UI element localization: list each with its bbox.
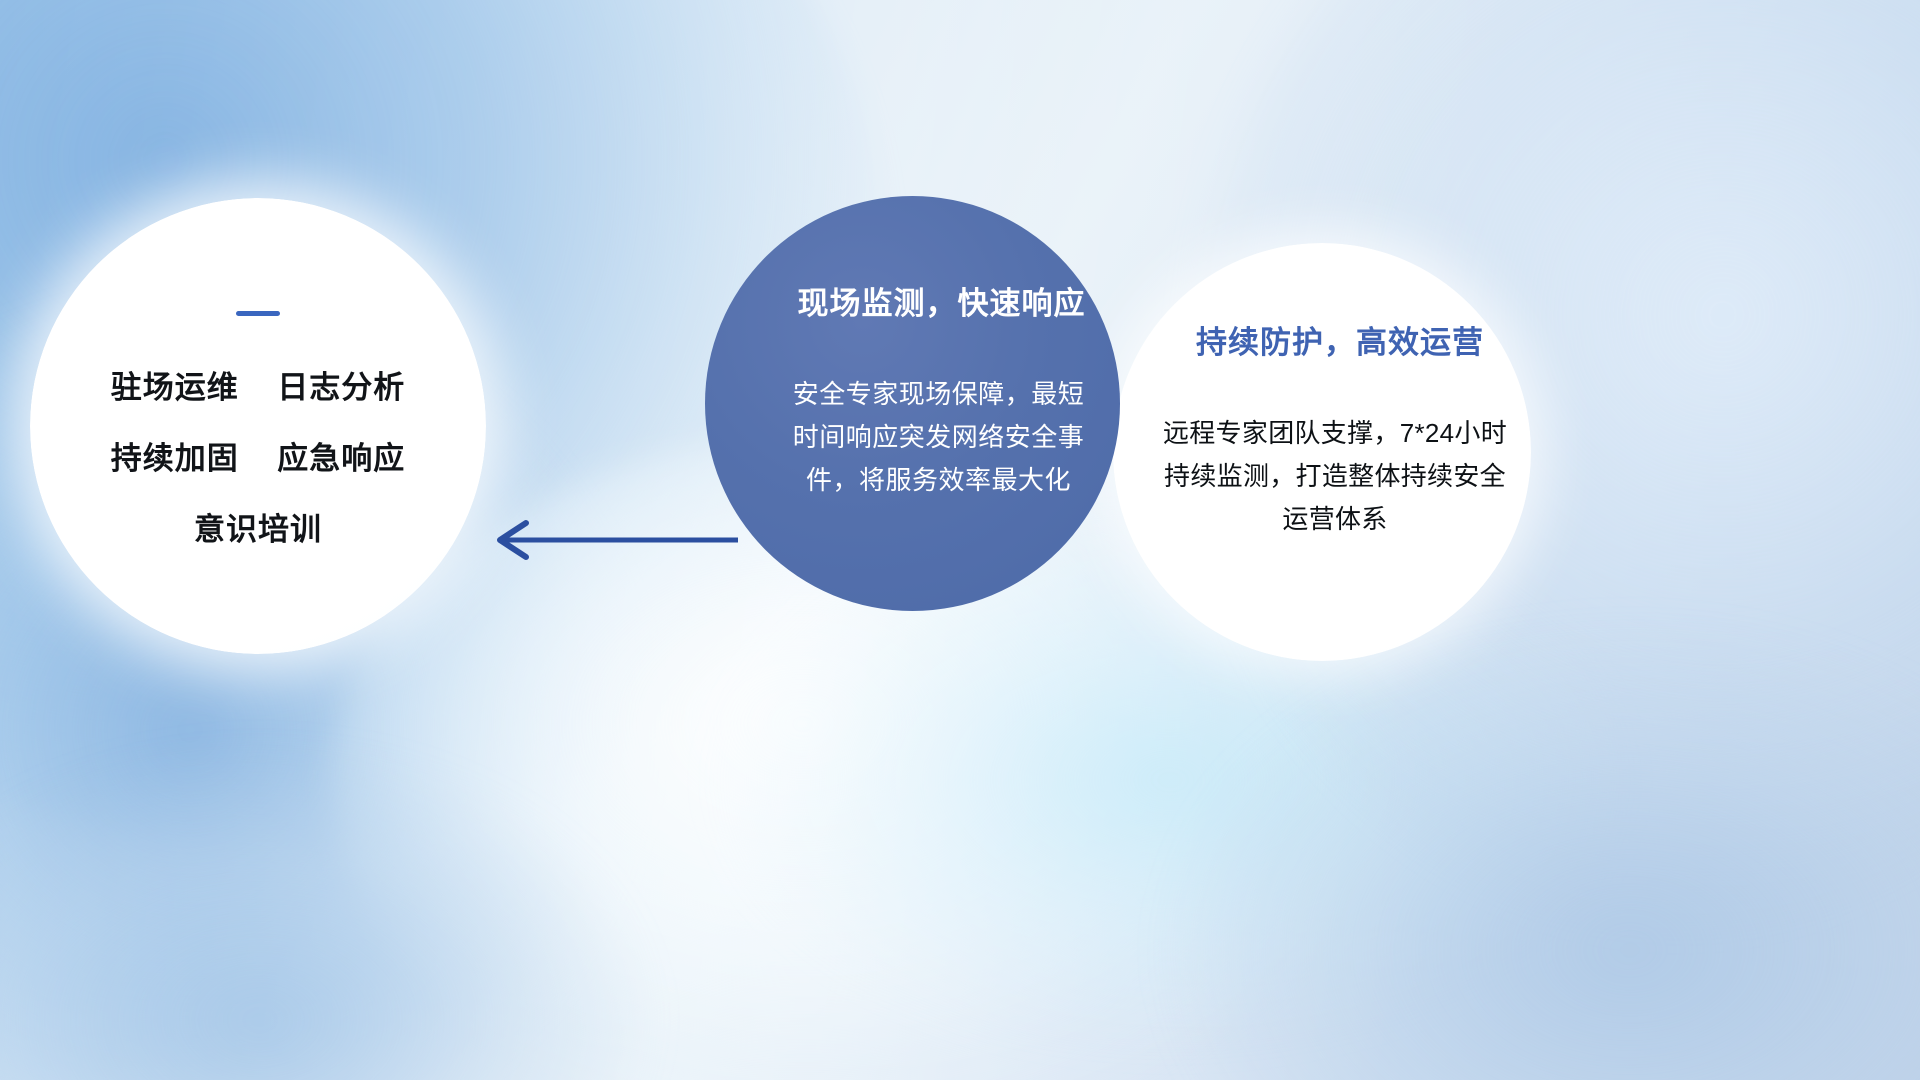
horizontal-dash-icon (236, 311, 280, 316)
middle-circle-body: 安全专家现场保障，最短时间响应突发网络安全事件，将服务效率最大化 (789, 373, 1089, 502)
middle-circle-title: 现场监测，快速响应 (798, 278, 1086, 323)
left-capability-line-1: 驻场运维 日志分析 (111, 362, 405, 407)
arrow-left-icon (480, 512, 740, 568)
slide-content: 驻场运维 日志分析 持续加固 应急响应 意识培训 现场监测，快速响应 安全专家现… (0, 0, 1920, 1080)
right-circle-body: 远程专家团队支撑，7*24小时持续监测，打造整体持续安全运营体系 (1159, 412, 1511, 541)
left-capability-circle: 驻场运维 日志分析 持续加固 应急响应 意识培训 (30, 198, 486, 654)
right-operations-circle: 持续防护，高效运营 远程专家团队支撑，7*24小时持续监测，打造整体持续安全运营… (1113, 243, 1531, 661)
right-circle-title: 持续防护，高效运营 (1196, 317, 1484, 362)
middle-onsite-circle: 现场监测，快速响应 安全专家现场保障，最短时间响应突发网络安全事件，将服务效率最… (705, 196, 1120, 611)
left-capability-list: 驻场运维 日志分析 持续加固 应急响应 意识培训 (111, 362, 405, 549)
left-capability-line-3: 意识培训 (194, 504, 322, 549)
left-capability-line-2: 持续加固 应急响应 (111, 433, 405, 478)
